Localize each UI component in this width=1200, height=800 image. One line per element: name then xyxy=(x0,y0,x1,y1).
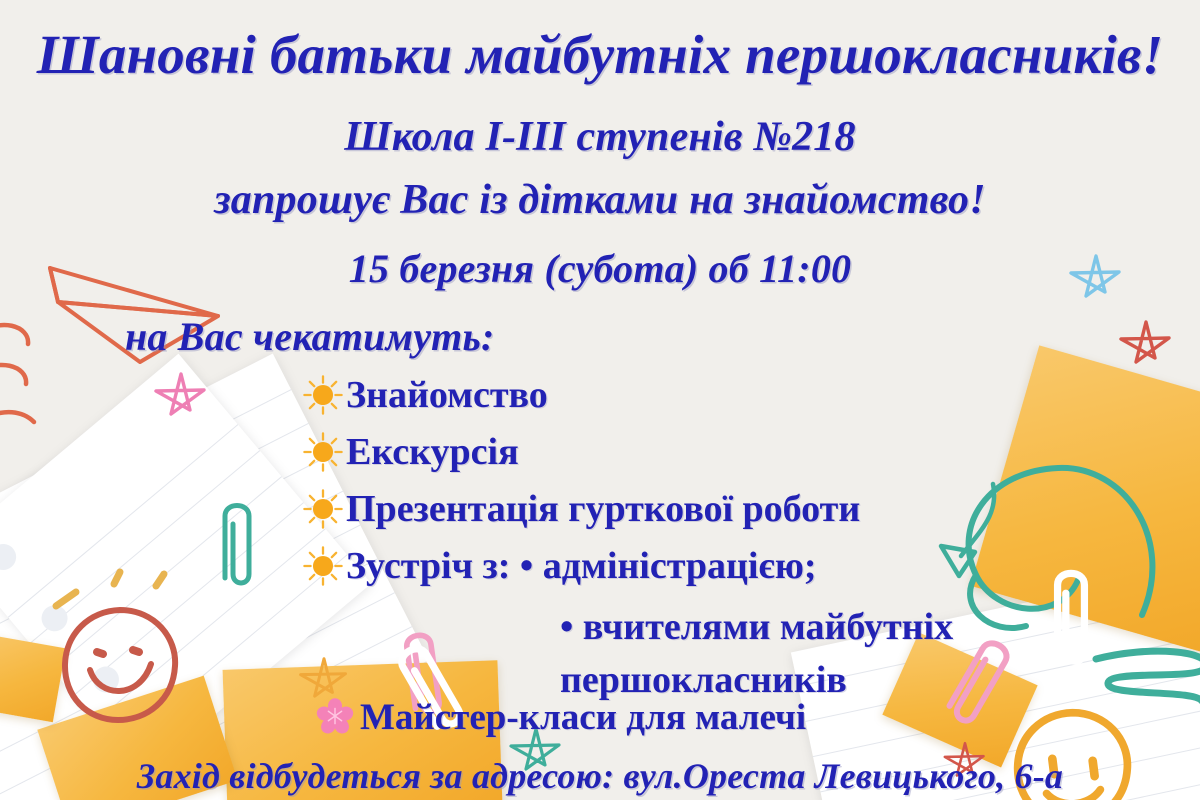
agenda-intro: на Вас чекатимуть: xyxy=(125,313,495,361)
event-address: Захід відбудеться за адресою: вул.Ореста… xyxy=(0,754,1200,798)
school-name: Школа I-III ступенів №218 xyxy=(0,112,1200,162)
list-item-label: Екскурсія xyxy=(346,429,519,475)
list-item-label: Презентація гурткової роботи xyxy=(346,486,860,532)
list-item-label: Знайомство xyxy=(346,372,548,418)
masterclass-label: Майстер-класи для малечі xyxy=(360,696,806,740)
list-item: Презентація гурткової роботи xyxy=(300,486,1120,538)
sun-icon xyxy=(300,543,346,589)
event-datetime: 15 березня (субота) об 11:00 xyxy=(0,245,1200,293)
sun-icon xyxy=(300,486,346,532)
cherry-blossom-icon xyxy=(316,697,354,740)
sun-icon xyxy=(300,429,346,475)
announcement-poster: Шановні батьки майбутніх першокласників!… xyxy=(0,0,1200,800)
masterclass-row: Майстер-класи для малечі xyxy=(316,696,806,740)
sun-icon xyxy=(300,372,346,418)
list-item-label: Зустріч з: • адміністрацією; xyxy=(346,543,817,589)
agenda-list: Знайомство Екскурсія xyxy=(300,372,1120,600)
invitation-text: запрошує Вас із дітками на знайомство! xyxy=(0,175,1200,225)
page-title: Шановні батьки майбутніх першокласників! xyxy=(0,24,1200,86)
list-item: Екскурсія xyxy=(300,429,1120,481)
list-item: Зустріч з: • адміністрацією; xyxy=(300,543,1120,595)
sub-list-item: • вчителями майбутніх xyxy=(560,604,953,650)
list-item: Знайомство xyxy=(300,372,1120,424)
